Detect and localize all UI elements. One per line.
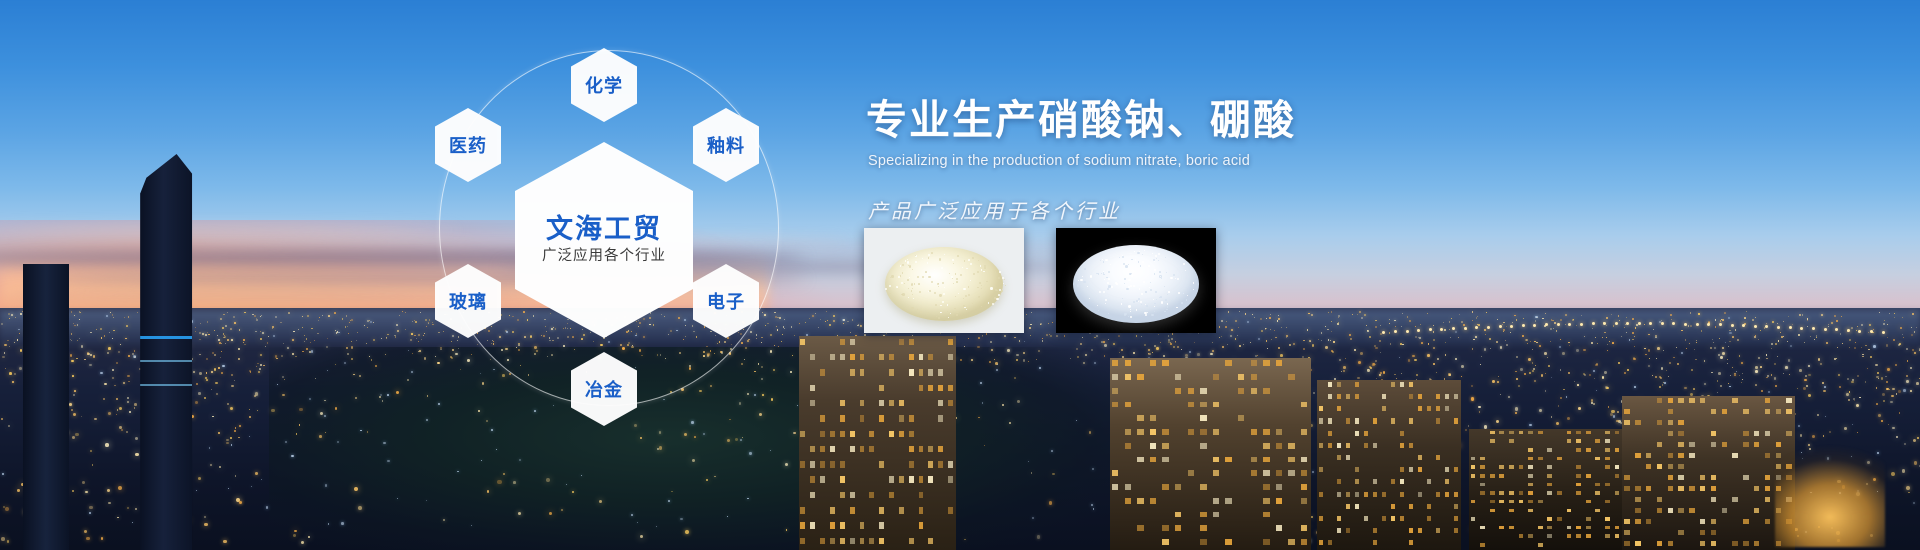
product-photo-row (864, 228, 1216, 333)
foreground-building (1110, 358, 1312, 550)
illuminated-landmark (1775, 427, 1885, 547)
foreground-building (1469, 429, 1623, 550)
foreground-building (1317, 380, 1461, 550)
industry-hex-diagram: 化学 釉料 电子 冶金 玻璃 医药 文海工贸 广泛应用各个行业 (415, 14, 835, 444)
powder-pile (1073, 245, 1199, 323)
product-photo-sodium-nitrate[interactable] (864, 228, 1024, 333)
page-title: 专业生产硝酸钠、硼酸 (866, 98, 1426, 144)
promo-banner: 化学 釉料 电子 冶金 玻璃 医药 文海工贸 广泛应用各个行业 专业生产硝酸钠、… (0, 0, 1920, 550)
cloud-band (0, 226, 461, 234)
bridge-lights (1382, 319, 1881, 349)
product-photo-boric-acid[interactable] (1056, 228, 1216, 333)
tagline: 产品广泛应用于各个行业 (868, 195, 1426, 224)
english-subtitle: Specializing in the production of sodium… (868, 153, 1426, 169)
powder-pile (885, 247, 1003, 321)
hex-label: 冶金 (585, 376, 623, 402)
skyscraper-left-secondary (23, 264, 69, 550)
foreground-building (1622, 396, 1795, 550)
headline-block: 专业生产硝酸钠、硼酸 Specializing in the productio… (866, 98, 1426, 224)
hex-label: 玻璃 (449, 288, 487, 314)
hex-label: 釉料 (707, 132, 745, 158)
skyscraper-left (140, 154, 192, 550)
hex-label: 化学 (585, 72, 623, 98)
company-slogan: 广泛应用各个行业 (542, 249, 666, 264)
company-name: 文海工贸 (546, 216, 662, 243)
hex-label: 电子 (707, 288, 745, 314)
hex-label: 医药 (449, 132, 487, 158)
